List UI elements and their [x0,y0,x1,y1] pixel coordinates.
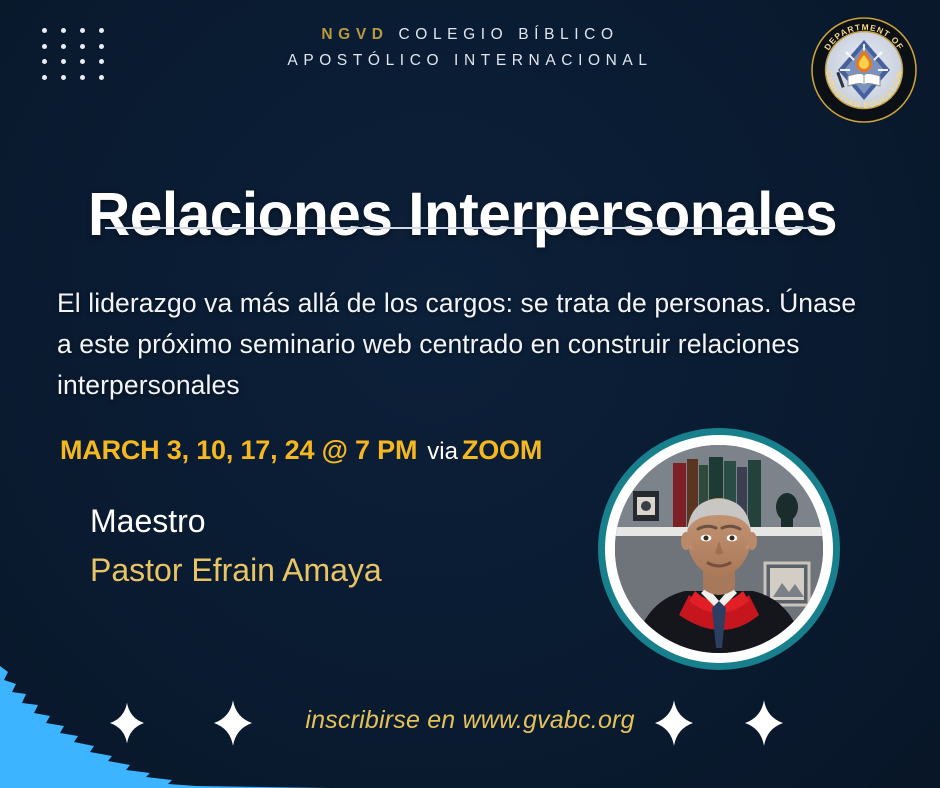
organization-line-1: NGVD COLEGIO BÍBLICO [0,22,940,48]
sparkle-star-icon [655,700,693,746]
schedule-platform: ZOOM [462,435,542,465]
portrait-photo [615,445,823,653]
schedule-line: MARCH 3, 10, 17, 24 @ 7 PMviaZOOM [60,434,542,468]
speaker-block: Maestro Pastor Efrain Amaya [90,498,382,596]
christian-education-seal-logo: DEPARTMENT OF CHRISTIAN EDUCATION [810,16,918,124]
organization-line-2: APOSTÓLICO INTERNACIONAL [0,48,940,74]
flyer-canvas: NGVD COLEGIO BÍBLICO APOSTÓLICO INTERNAC… [0,0,940,788]
organization-header: NGVD COLEGIO BÍBLICO APOSTÓLICO INTERNAC… [0,22,940,74]
org-abbreviation: NGVD [321,26,388,43]
registration-url[interactable]: inscribirse en www.gvabc.org [0,706,940,735]
schedule-dates: MARCH 3, 10, 17, 24 @ 7 PM [60,435,417,465]
page-title: Relaciones Interpersonales [88,179,846,249]
sparkle-star-icon [745,700,783,746]
schedule-via-label: via [417,438,462,465]
org-name-part: COLEGIO BÍBLICO [399,26,619,43]
title-divider [105,227,815,229]
speaker-role: Maestro [90,498,382,544]
speaker-portrait [598,428,840,670]
dot-grid-icon [42,28,118,90]
description-text: El liderazgo va más allá de los cargos: … [57,283,867,406]
speaker-name: Pastor Efrain Amaya [90,544,382,596]
